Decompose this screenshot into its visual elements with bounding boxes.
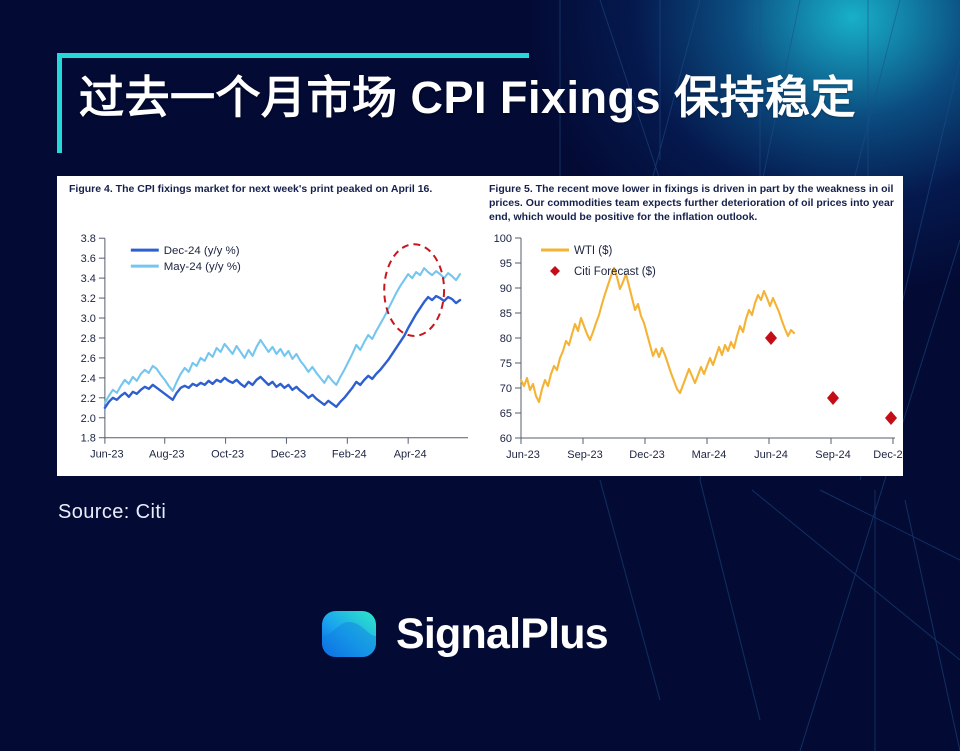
svg-text:2.6: 2.6 (81, 353, 96, 365)
page-title: 过去一个月市场 CPI Fixings 保持稳定 (79, 61, 856, 126)
series-may-24 (105, 268, 460, 403)
figure-5: Figure 5. The recent move lower in fixin… (477, 176, 903, 476)
svg-text:May-24 (y/y %): May-24 (y/y %) (164, 261, 241, 273)
annotation-highlight-ellipse (384, 244, 444, 336)
svg-text:3.0: 3.0 (81, 313, 96, 325)
series-citi-forecast (765, 331, 897, 425)
brand-name: SignalPlus (396, 613, 608, 656)
svg-text:Dec-24: Dec-24 (873, 449, 903, 461)
svg-text:95: 95 (500, 258, 512, 270)
svg-text:Sep-24: Sep-24 (815, 449, 850, 461)
svg-text:2.0: 2.0 (81, 413, 96, 425)
svg-text:Dec-23: Dec-23 (629, 449, 664, 461)
svg-text:2.4: 2.4 (81, 373, 96, 385)
series-wti (521, 268, 794, 402)
svg-text:90: 90 (500, 283, 512, 295)
svg-text:Oct-23: Oct-23 (211, 449, 244, 461)
svg-text:Jun-23: Jun-23 (90, 449, 124, 461)
figure-4-legend: Dec-24 (y/y %) May-24 (y/y %) (131, 245, 241, 273)
title-block: 过去一个月市场 CPI Fixings 保持稳定 (57, 53, 887, 153)
figure-4: Figure 4. The CPI fixings market for nex… (57, 176, 477, 476)
svg-text:Mar-24: Mar-24 (692, 449, 727, 461)
svg-text:Jun-24: Jun-24 (754, 449, 788, 461)
figure-4-plot: 3.8 3.6 3.4 3.2 3.0 2.8 2.6 2.4 2.2 2.0 … (57, 176, 476, 476)
svg-text:Dec-23: Dec-23 (271, 449, 306, 461)
svg-text:Aug-23: Aug-23 (149, 449, 184, 461)
report-panel: Figure 4. The CPI fixings market for nex… (57, 176, 903, 476)
svg-text:Jun-23: Jun-23 (506, 449, 540, 461)
svg-text:Apr-24: Apr-24 (394, 449, 427, 461)
brand-logo: SignalPlus (318, 606, 608, 662)
source-label: Source: Citi (58, 501, 166, 524)
svg-text:1.8: 1.8 (81, 433, 96, 445)
svg-text:2.8: 2.8 (81, 333, 96, 345)
svg-text:75: 75 (500, 358, 512, 370)
svg-text:WTI ($): WTI ($) (574, 245, 612, 257)
svg-text:60: 60 (500, 433, 512, 445)
svg-text:85: 85 (500, 308, 512, 320)
svg-text:2.2: 2.2 (81, 393, 96, 405)
figure-5-legend: WTI ($) Citi Forecast ($) (541, 245, 656, 278)
svg-text:3.4: 3.4 (81, 273, 96, 285)
svg-text:3.2: 3.2 (81, 293, 96, 305)
svg-text:3.8: 3.8 (81, 233, 96, 245)
svg-text:100: 100 (494, 233, 512, 245)
title-accent-left-bar (57, 53, 62, 153)
svg-text:80: 80 (500, 333, 512, 345)
svg-text:65: 65 (500, 408, 512, 420)
svg-text:70: 70 (500, 383, 512, 395)
title-accent-top-rule (57, 53, 529, 58)
svg-text:Dec-24 (y/y %): Dec-24 (y/y %) (164, 245, 240, 257)
svg-text:Feb-24: Feb-24 (332, 449, 367, 461)
figure-5-plot: 100 95 90 85 80 75 70 65 60 Jun-23 Sep-2… (477, 176, 903, 476)
signalplus-wave-icon (318, 609, 380, 659)
svg-text:3.6: 3.6 (81, 253, 96, 265)
svg-text:Citi Forecast ($): Citi Forecast ($) (574, 266, 656, 278)
svg-text:Sep-23: Sep-23 (567, 449, 602, 461)
